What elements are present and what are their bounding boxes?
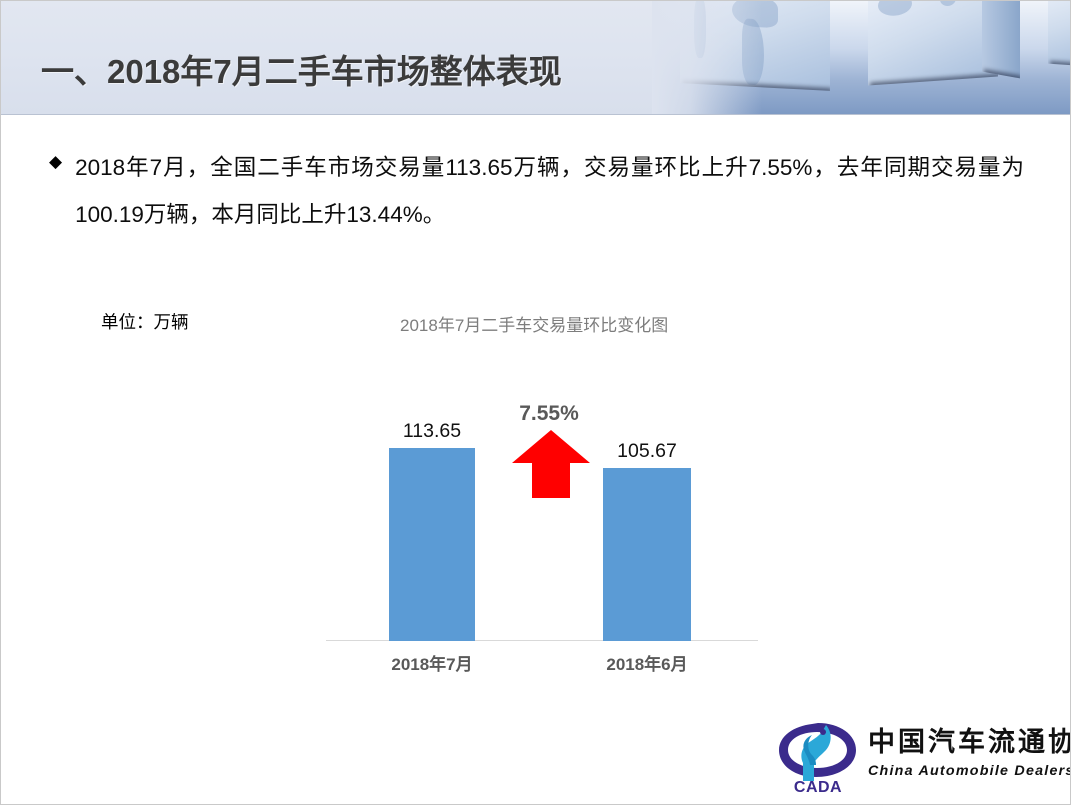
cada-logo: CADA 中国汽车流通协会 China Automobile Dealers A…	[776, 719, 1062, 797]
decorative-cube-2-side	[982, 1, 1020, 78]
bar-chart-plot-area: 113.65 105.67 2018年7月 2018年6月 7.55%	[326, 381, 758, 681]
chart-title: 2018年7月二手车交易量环比变化图	[400, 311, 668, 336]
cube-face	[1048, 1, 1071, 66]
slide-header-band: 一、2018年7月二手车市场整体表现	[1, 1, 1071, 115]
up-arrow-icon	[512, 430, 590, 498]
category-label-2018-07: 2018年7月	[369, 650, 495, 675]
category-label-2018-06: 2018年6月	[583, 650, 711, 675]
bullet-paragraph: ◆ 2018年7月，全国二手车市场交易量113.65万辆，交易量环比上升7.55…	[49, 144, 1024, 238]
change-percentage-label: 7.55%	[494, 402, 604, 426]
decorative-cube-3	[1048, 1, 1071, 66]
logo-english-name: China Automobile Dealers Association	[868, 759, 1068, 781]
chart-unit-label: 单位：万辆	[101, 309, 189, 334]
svg-text:CADA: CADA	[794, 779, 842, 795]
presentation-slide: 一、2018年7月二手车市场整体表现 ◆ 2018年7月，全国二手车市场交易量1…	[0, 0, 1071, 805]
page-title: 一、2018年7月二手车市场整体表现	[41, 45, 562, 93]
header-decorative-photo	[652, 1, 1071, 114]
diamond-bullet-icon: ◆	[49, 144, 62, 180]
bar-series-2018-06	[603, 468, 691, 641]
bar-value-label: 105.67	[603, 440, 691, 463]
bullet-paragraph-text: 2018年7月，全国二手车市场交易量113.65万辆，交易量环比上升7.55%，…	[75, 144, 1024, 238]
decorative-cube-2	[868, 1, 998, 86]
cada-logo-text: 中国汽车流通协会 China Automobile Dealers Associ…	[868, 725, 1064, 781]
cada-emblem-icon: CADA	[776, 719, 860, 795]
photo-left-fade	[652, 1, 762, 114]
bar-value-label: 113.65	[389, 420, 475, 443]
logo-chinese-name: 中国汽车流通协会	[868, 725, 1064, 759]
bar-series-2018-07	[389, 448, 475, 641]
